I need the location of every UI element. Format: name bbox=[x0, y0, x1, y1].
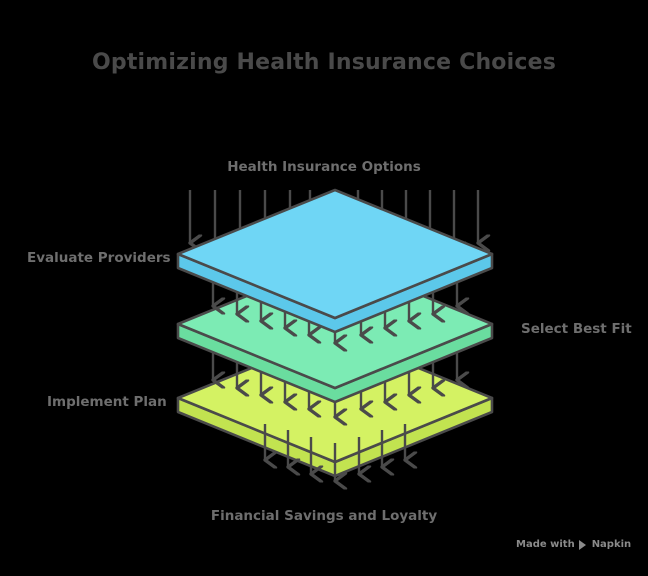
output-label: Financial Savings and Loyalty bbox=[0, 508, 648, 524]
napkin-play-mark-icon bbox=[579, 540, 588, 550]
watermark-made-with-text: Made with bbox=[516, 539, 575, 550]
napkin-watermark[interactable]: Made with Napkin bbox=[516, 539, 631, 550]
watermark-brand-text: Napkin bbox=[592, 539, 631, 550]
input-label: Health Insurance Options bbox=[0, 159, 648, 175]
layer-1-top bbox=[178, 190, 492, 318]
layered-funnel-diagram bbox=[0, 0, 648, 576]
layer-3-label: Implement Plan bbox=[47, 394, 167, 410]
layer-1-label: Evaluate Providers bbox=[27, 250, 171, 266]
layer-2-label: Select Best Fit bbox=[521, 321, 632, 337]
diagram-canvas: Optimizing Health Insurance Choices bbox=[0, 0, 648, 576]
